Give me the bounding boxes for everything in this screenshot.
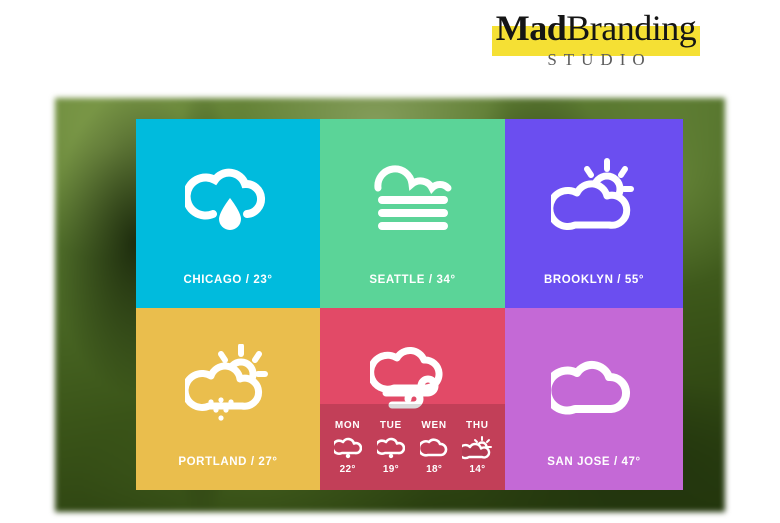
forecast-day[interactable]: TUE 19°	[369, 420, 412, 475]
forecast-day[interactable]: THU 14°	[456, 420, 499, 475]
brand-logo: MadBranding STUDIO	[470, 10, 722, 70]
forecast-day[interactable]: WEN 18°	[413, 420, 456, 475]
forecast-day-name: THU	[456, 420, 499, 431]
forecast-day-temp: 18°	[413, 464, 456, 475]
sun-cloud-snow-icon	[180, 342, 276, 426]
forecast-strip: MON 22° TUE 19°	[320, 404, 505, 490]
cloud-drop-icon	[369, 435, 412, 461]
weather-tile-portland[interactable]: PORTLAND / 27°	[136, 308, 320, 490]
logo-word-branding: Branding	[566, 8, 696, 48]
weather-tile-brooklyn[interactable]: BROOKLYN / 55°	[505, 119, 683, 308]
tile-label-portland: PORTLAND / 27°	[136, 456, 320, 490]
logo-subtitle: STUDIO	[492, 51, 700, 68]
weather-tile-forecast[interactable]: MON 22° TUE 19°	[320, 308, 505, 490]
logo-wordmark: MadBranding	[492, 10, 700, 46]
cloud-icon	[546, 342, 642, 426]
weather-tile-san-jose[interactable]: SAN JOSE / 47°	[505, 308, 683, 490]
weather-tile-seattle[interactable]: SEATTLE / 34°	[320, 119, 505, 308]
tile-label-san-jose: SAN JOSE / 47°	[505, 456, 683, 490]
forecast-day-temp: 14°	[456, 464, 499, 475]
forecast-day-temp: 22°	[326, 464, 369, 475]
cloud-rain-icon	[180, 153, 276, 237]
forecast-day-name: WEN	[413, 420, 456, 431]
forecast-day[interactable]: MON 22°	[326, 420, 369, 475]
forecast-day-temp: 19°	[369, 464, 412, 475]
forecast-day-name: MON	[326, 420, 369, 431]
forecast-day-name: TUE	[369, 420, 412, 431]
cloud-icon	[413, 435, 456, 461]
cloud-drop-icon	[326, 435, 369, 461]
cloud-fog-icon	[365, 153, 461, 237]
tile-label-seattle: SEATTLE / 34°	[320, 274, 505, 308]
sun-cloud-icon	[546, 153, 642, 237]
logo-word-mad: Mad	[496, 8, 567, 48]
weather-tile-grid: CHICAGO / 23° SEATTLE / 34°	[136, 119, 683, 490]
tile-label-chicago: CHICAGO / 23°	[136, 274, 320, 308]
sun-cloud-icon	[456, 435, 499, 461]
logo-mark: MadBranding STUDIO	[492, 10, 700, 68]
tile-label-brooklyn: BROOKLYN / 55°	[505, 274, 683, 308]
weather-tile-chicago[interactable]: CHICAGO / 23°	[136, 119, 320, 308]
